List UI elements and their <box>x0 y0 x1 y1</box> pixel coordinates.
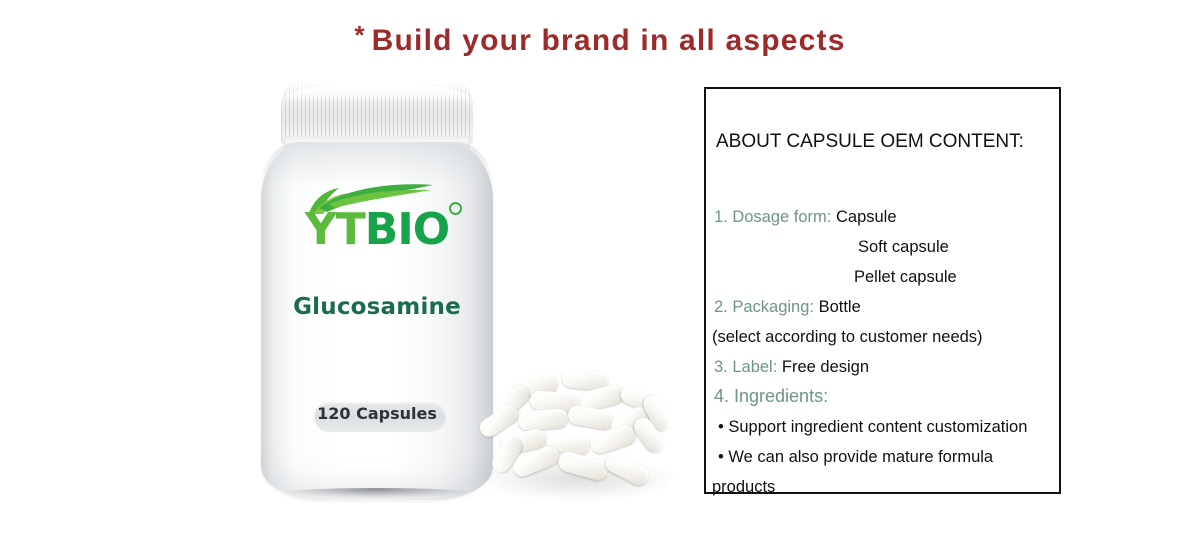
product-name: Glucosamine <box>252 294 502 320</box>
info-panel-title: ABOUT CAPSULE OEM CONTENT: <box>716 131 1024 153</box>
info-bullet: • Support ingredient content customizati… <box>718 418 1027 437</box>
capsule-pile <box>470 360 690 515</box>
brand-logo-yt: YT <box>305 204 365 255</box>
info-item-label: 3. Label: <box>714 358 777 376</box>
info-item-value: Pellet capsule <box>854 268 957 286</box>
registered-trademark-icon <box>449 202 462 215</box>
info-item-label: 1. Dosage form: <box>714 208 831 226</box>
info-item-packaging: 2. Packaging: Bottle <box>714 298 861 317</box>
info-item-value: (select according to customer needs) <box>712 328 983 346</box>
info-item-soft-capsule: Soft capsule <box>858 238 949 257</box>
info-item-value: Bottle <box>819 298 861 316</box>
capsule-count-label: 120 Capsules <box>252 404 502 423</box>
info-panel: ABOUT CAPSULE OEM CONTENT: 1. Dosage for… <box>704 87 1061 494</box>
info-bullet-continuation: products <box>712 478 775 497</box>
asterisk-icon: * <box>354 20 365 50</box>
info-item-packaging-note: (select according to customer needs) <box>712 328 983 347</box>
info-item-ingredients: 4. Ingredients: <box>714 386 828 407</box>
brand-logo-text: YTBIO <box>305 204 449 255</box>
brand-logo: YTBIO <box>252 208 502 252</box>
capsule <box>567 404 616 431</box>
product-bottle: YTBIO Glucosamine 120 Capsules <box>252 84 502 504</box>
info-bullet: • We can also provide mature formula <box>718 448 993 467</box>
page-title-text: Build your brand in all aspects <box>372 24 846 57</box>
info-item-value: Soft capsule <box>858 238 949 256</box>
info-item-pellet-capsule: Pellet capsule <box>854 268 957 287</box>
info-item-label: 2. Packaging: <box>714 298 814 316</box>
info-item-label-option: 3. Label: Free design <box>714 358 869 377</box>
capsule <box>588 423 638 455</box>
capsule <box>517 408 568 430</box>
info-item-value: Free design <box>782 358 869 376</box>
info-item-dosage-form: 1. Dosage form: Capsule <box>714 208 897 227</box>
page-title: *Build your brand in all aspects <box>0 20 1200 58</box>
bottle-cap <box>281 84 473 146</box>
brand-logo-bio: BIO <box>365 204 449 255</box>
marketing-banner: *Build your brand in all aspects YTBIO G… <box>0 0 1200 544</box>
info-item-value: Capsule <box>836 208 897 226</box>
info-item-label: 4. Ingredients: <box>714 386 828 406</box>
